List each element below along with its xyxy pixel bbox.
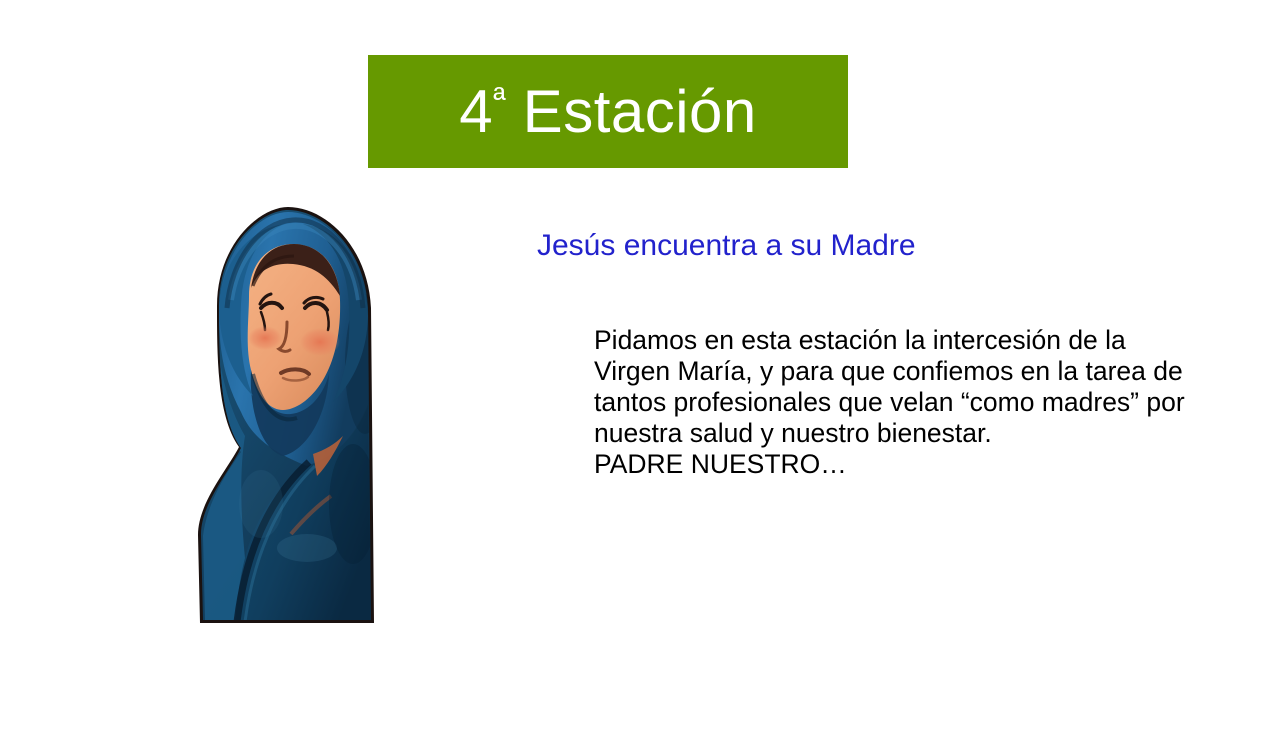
left-cheek: [248, 326, 282, 350]
station-number: 4: [459, 78, 493, 145]
right-cheek: [300, 328, 340, 356]
mantle-highlight-1: [277, 534, 337, 562]
slide-canvas: 4ª Estación: [0, 0, 1280, 730]
station-word: Estación: [523, 78, 757, 145]
station-subtitle: Jesús encuentra a su Madre: [537, 228, 916, 264]
virgin-mary-illustration: [157, 204, 415, 626]
title-banner: 4ª Estación: [368, 55, 848, 168]
mantle-highlight-2: [239, 470, 283, 538]
ordinal-indicator: ª: [493, 82, 505, 119]
station-body-text: Pidamos en esta estación la intercesión …: [594, 325, 1194, 480]
page-title: 4ª Estación: [459, 82, 757, 142]
